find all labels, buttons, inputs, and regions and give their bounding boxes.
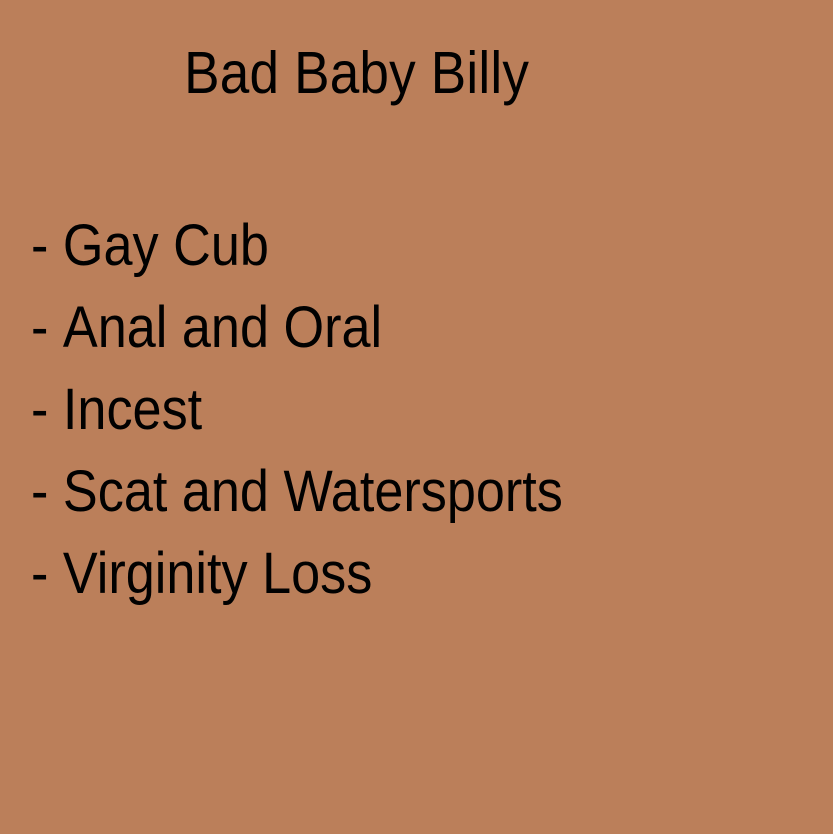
list-item-marker: - bbox=[31, 287, 48, 369]
list-item: - Gay Cub bbox=[31, 205, 733, 287]
list-item: - Scat and Watersports bbox=[31, 451, 733, 533]
list-item-label: Anal and Oral bbox=[63, 287, 382, 369]
list-item: - Incest bbox=[31, 369, 733, 451]
list-item-label: Gay Cub bbox=[63, 205, 269, 287]
page-title: Bad Baby Billy bbox=[184, 40, 529, 106]
list-item-label: Incest bbox=[63, 369, 202, 451]
slide-canvas: Bad Baby Billy - Gay Cub - Anal and Oral… bbox=[0, 0, 833, 834]
list-item-label: Scat and Watersports bbox=[63, 451, 563, 533]
list-item-marker: - bbox=[31, 451, 48, 533]
list-item-marker: - bbox=[31, 205, 48, 287]
list-item: - Virginity Loss bbox=[31, 533, 733, 615]
slide-title-placeholder[interactable]: Bad Baby Billy bbox=[0, 40, 713, 106]
list-item: - Anal and Oral bbox=[31, 287, 733, 369]
list-item-marker: - bbox=[31, 369, 48, 451]
list-item-label: Virginity Loss bbox=[63, 533, 372, 615]
list-item-marker: - bbox=[31, 533, 48, 615]
slide-body-placeholder[interactable]: - Gay Cub - Anal and Oral - Incest - Sca… bbox=[31, 205, 811, 615]
